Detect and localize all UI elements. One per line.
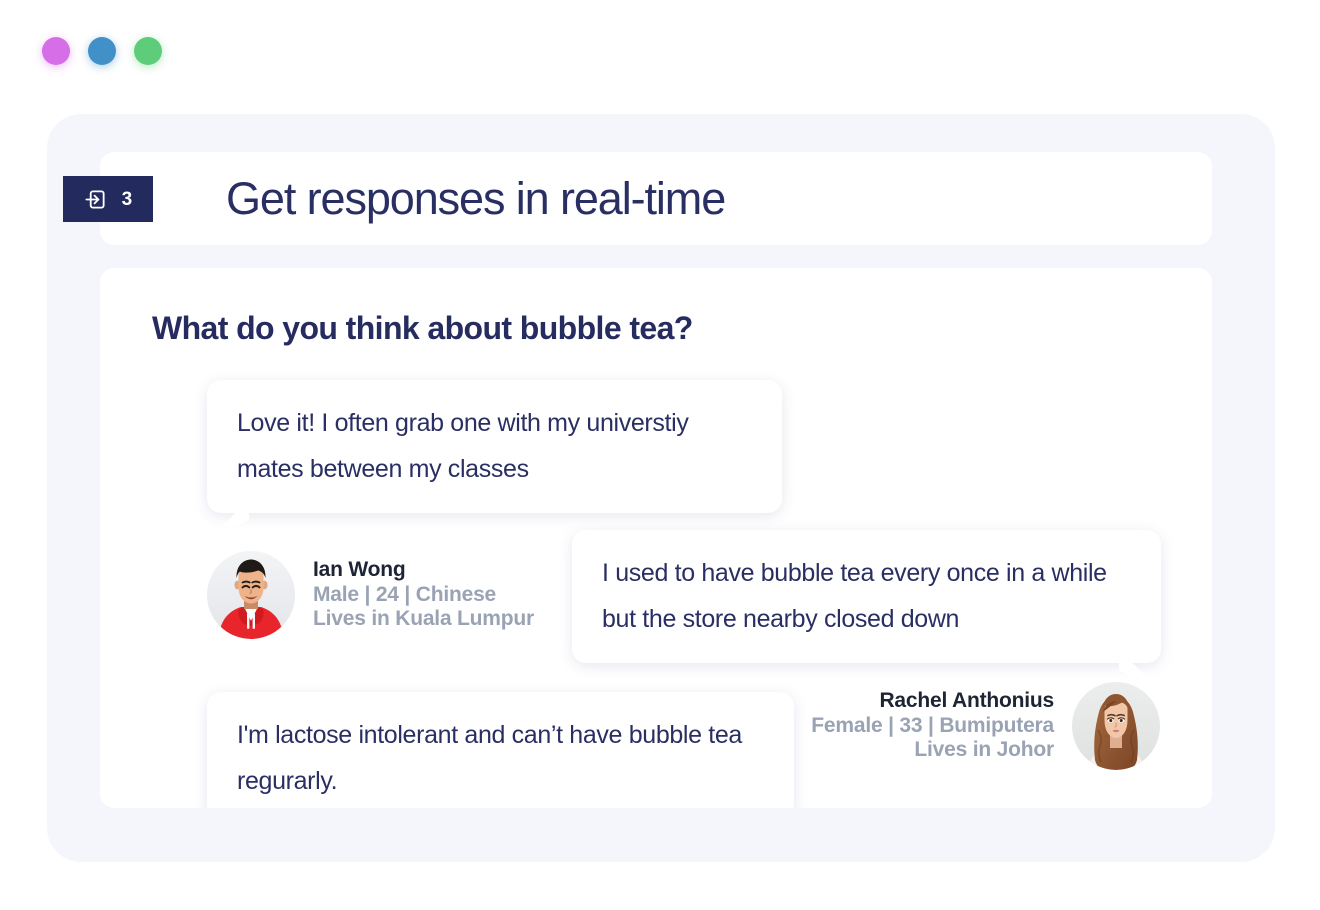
profile-location: Lives in Johor (811, 738, 1054, 763)
enter-arrow-icon (84, 188, 107, 211)
content-panel: 3 Get responses in real-time What do you… (47, 114, 1275, 862)
profile-meta: Male | 24 | Chinese (313, 583, 534, 608)
profile-name: Rachel Anthonius (811, 689, 1054, 714)
avatar-rachel-anthonius (1072, 682, 1160, 770)
message-bubble-1: Love it! I often grab one with my univer… (207, 380, 782, 513)
page-title: Get responses in real-time (226, 176, 725, 221)
message-bubble-2: I used to have bubble tea every once in … (572, 530, 1161, 663)
profile-location: Lives in Kuala Lumpur (313, 607, 534, 632)
profile-text: Ian Wong Male | 24 | Chinese Lives in Ku… (313, 558, 534, 632)
message-text-3: I'm lactose intolerant and can’t have bu… (237, 721, 742, 795)
step-badge: 3 (63, 176, 153, 222)
message-text-1: Love it! I often grab one with my univer… (237, 409, 689, 483)
window-dot-green[interactable] (134, 37, 162, 65)
bubble-tail-icon (215, 500, 249, 534)
window-dot-magenta[interactable] (42, 37, 70, 65)
profile-rachel-anthonius[interactable]: Rachel Anthonius Female | 33 | Bumiputer… (811, 682, 1160, 770)
bubble-tail-icon (1119, 650, 1153, 684)
window-dot-blue[interactable] (88, 37, 116, 65)
message-bubble-3: I'm lactose intolerant and can’t have bu… (207, 692, 794, 808)
question-text: What do you think about bubble tea? (152, 312, 1160, 344)
header-card: 3 Get responses in real-time (100, 152, 1212, 245)
profile-text: Rachel Anthonius Female | 33 | Bumiputer… (811, 689, 1054, 763)
profile-meta: Female | 33 | Bumiputera (811, 714, 1054, 739)
step-number: 3 (122, 190, 133, 209)
responses-card: What do you think about bubble tea? Love… (100, 268, 1212, 808)
window-dots (42, 37, 162, 65)
avatar-ian-wong (207, 551, 295, 639)
profile-name: Ian Wong (313, 558, 534, 583)
profile-ian-wong[interactable]: Ian Wong Male | 24 | Chinese Lives in Ku… (207, 551, 534, 639)
message-text-2: I used to have bubble tea every once in … (602, 559, 1107, 633)
